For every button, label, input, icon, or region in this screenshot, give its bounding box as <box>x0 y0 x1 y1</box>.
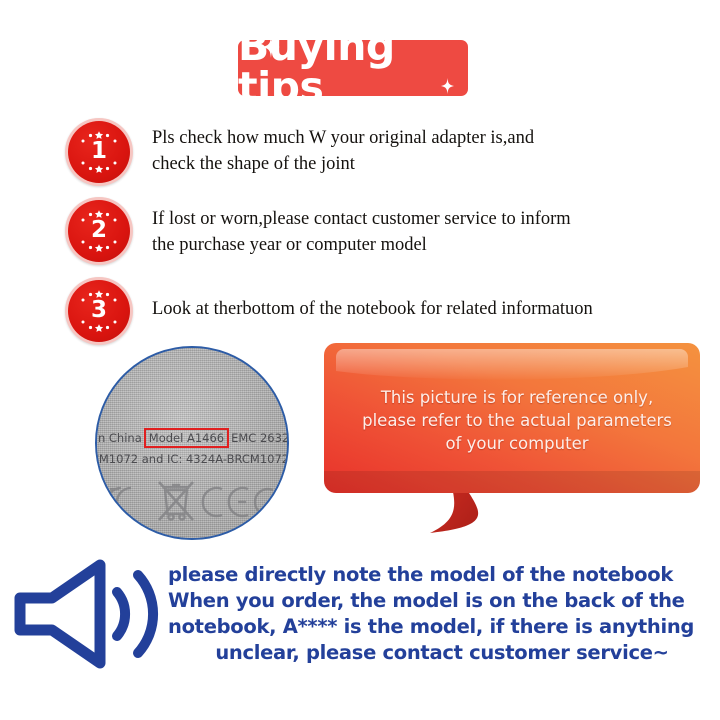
bubble-text: This picture is for reference only, plea… <box>348 387 686 455</box>
tip-text-line: the purchase year or computer model <box>152 232 712 258</box>
reference-notice-bubble: This picture is for reference only, plea… <box>322 333 712 545</box>
tip-text: Pls check how much W your original adapt… <box>152 125 712 178</box>
tip-number-badge: 3 <box>65 277 133 345</box>
ce-mark-icon <box>203 488 248 516</box>
tip-text: Look at therbottom of the notebook for r… <box>152 296 712 322</box>
tip-number: 2 <box>65 219 133 242</box>
bubble-text-line: This picture is for reference only, <box>348 387 686 410</box>
bubble-text-line: of your computer <box>348 433 686 456</box>
tip-text-line: If lost or worn,please contact customer … <box>152 206 712 232</box>
bubble-text-line: please refer to the actual parameters <box>348 410 686 433</box>
laptop-label-photo: in ChinaModel A1466EMC 2632 CM1072 and I… <box>95 346 289 540</box>
tip-number-badge: 2 <box>65 197 133 265</box>
label-text-line-2: CM1072 and IC: 4324A-BRCM1072 <box>95 452 289 466</box>
speaker-megaphone-icon <box>14 558 172 670</box>
tip-text-line: Pls check how much W your original adapt… <box>152 125 712 151</box>
tip-text: If lost or worn,please contact customer … <box>152 206 712 259</box>
tip-row: 1 Pls check how much W your original ada… <box>0 118 720 188</box>
bubble-bottom-shade <box>324 471 700 493</box>
model-number-highlight: Model A1466 <box>144 428 229 448</box>
footer-line: unclear, please contact customer service… <box>168 640 716 666</box>
title-badge: Buying tips <box>238 40 468 96</box>
footer-line: notebook, A**** is the model, if there i… <box>168 614 716 640</box>
footer-line: When you order, the model is on the back… <box>168 588 716 614</box>
footer-line: please directly note the model of the no… <box>168 562 716 588</box>
partial-mark-icon <box>255 489 273 515</box>
tip-text-line: Look at therbottom of the notebook for r… <box>152 296 712 322</box>
tip-row: 2 If lost or worn,please contact custome… <box>0 197 720 267</box>
fcc-mark-icon <box>107 488 131 516</box>
tip-number: 3 <box>65 299 133 322</box>
tip-text-line: check the shape of the joint <box>152 151 712 177</box>
page-title: Buying tips <box>238 26 468 108</box>
label-emc-text: EMC 2632 <box>231 431 289 445</box>
label-text-line-1: in ChinaModel A1466EMC 2632 <box>95 431 289 445</box>
footer-note: please directly note the model of the no… <box>168 562 716 666</box>
weee-crossed-bin-icon <box>159 482 193 520</box>
label-origin-text: in China <box>95 431 142 445</box>
buying-tips-poster: Buying tips <box>0 0 720 720</box>
tip-number: 1 <box>65 140 133 163</box>
tip-number-badge: 1 <box>65 118 133 186</box>
certification-marks <box>105 476 280 528</box>
